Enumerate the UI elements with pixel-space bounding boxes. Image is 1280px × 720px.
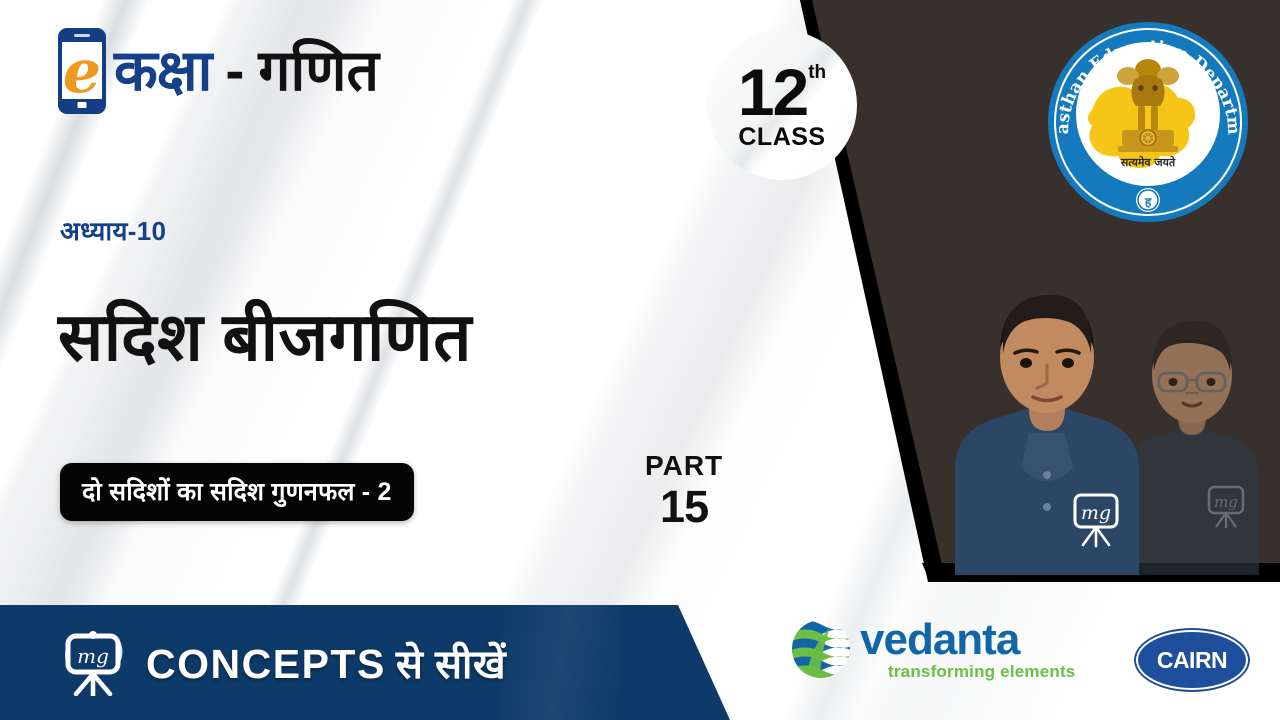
banner-text-hi: से सीखें	[396, 635, 506, 690]
banner-text: CONCEPTS से सीखें	[146, 635, 506, 690]
part-label: PART	[645, 452, 723, 480]
phone-icon: e	[58, 28, 106, 114]
page-title: सदिश बीजगणित	[58, 300, 472, 375]
svg-text:ह: ह	[1144, 195, 1152, 209]
brand-kaksha-text: कक्षा	[114, 43, 211, 100]
sponsor-cairn: CAIRN	[1136, 630, 1248, 690]
sponsor-vedanta: vedanta transforming elements	[790, 618, 1075, 680]
part-block: PART 15	[645, 452, 723, 529]
govt-seal-mark: ह	[1136, 188, 1160, 212]
vedanta-name: vedanta	[860, 618, 1075, 662]
brand-subject-text: गणित	[258, 43, 379, 100]
instructors-photo: mg mg	[905, 230, 1280, 575]
phone-home-button	[78, 102, 87, 108]
class-number: 12	[738, 59, 807, 125]
thumbnail-canvas: mg mg	[0, 0, 1280, 720]
bottom-banner: mg CONCEPTS से सीखें	[0, 605, 740, 720]
svg-text:mg: mg	[1081, 502, 1111, 524]
emblem-motto: सत्यमेव जयते	[1120, 155, 1176, 169]
cairn-name: CAIRN	[1157, 647, 1227, 674]
vedanta-globe-icon	[790, 618, 852, 680]
class-ordinal: th	[808, 63, 826, 82]
banner-sheen	[500, 605, 620, 720]
class-badge: 12 th CLASS	[707, 30, 857, 180]
mg-logo-text: mg	[77, 644, 109, 668]
banner-text-en: CONCEPTS	[146, 641, 386, 688]
e-letter: e	[63, 42, 101, 102]
svg-text:mg: mg	[1214, 493, 1238, 511]
instructor-front: mg	[925, 245, 1170, 575]
brand-separator: -	[225, 43, 244, 100]
class-number-row: 12 th	[738, 59, 826, 125]
ekaksha-brand: e कक्षा - गणित	[58, 28, 379, 114]
rajasthan-education-department-logo: सत्यमेव जयते Rajasthan Education Departm…	[1044, 18, 1252, 226]
chapter-label: अध्याय-10	[60, 212, 166, 248]
subtopic-badge: दो सदिशों का सदिश गुणनफल - 2	[60, 463, 414, 521]
vedanta-text-block: vedanta transforming elements	[860, 618, 1075, 680]
class-word: CLASS	[738, 123, 825, 152]
phone-speaker	[74, 34, 90, 37]
mg-easel-logo: mg	[62, 630, 124, 696]
part-number: 15	[645, 484, 723, 529]
vedanta-tagline: transforming elements	[888, 663, 1075, 680]
